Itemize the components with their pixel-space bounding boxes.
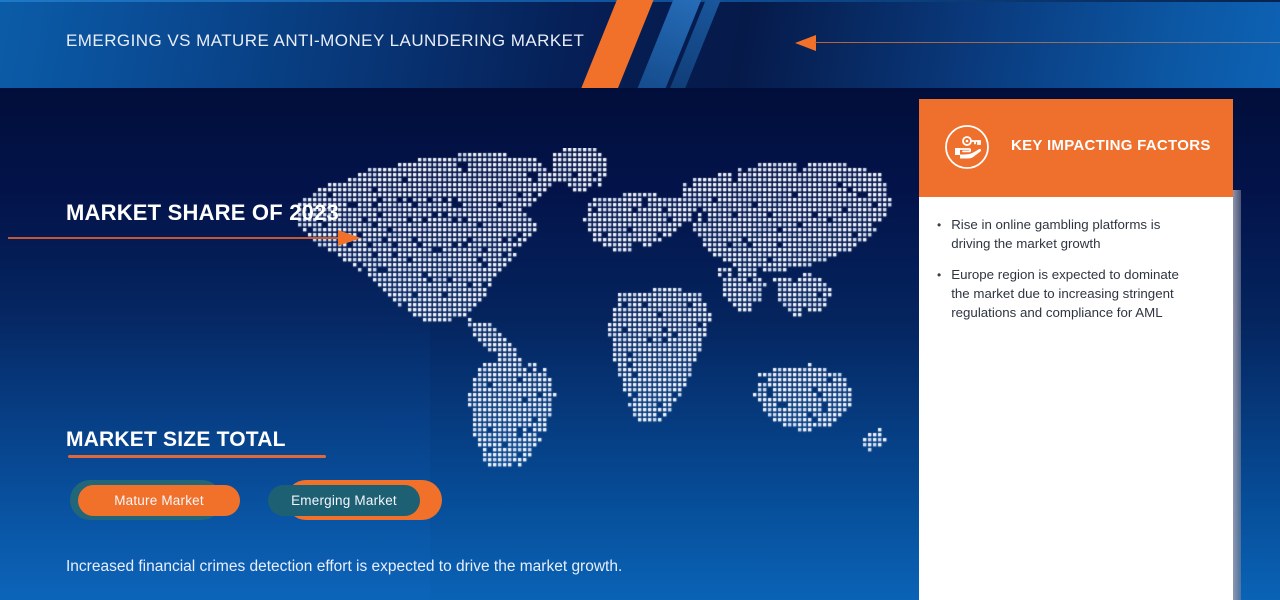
- market-size-heading: MARKET SIZE TOTAL: [66, 428, 286, 452]
- market-share-heading: MARKET SHARE OF 2023: [66, 200, 339, 226]
- legend-mature-label: Mature Market: [78, 485, 240, 516]
- list-item: • Europe region is expected to dominate …: [919, 265, 1219, 322]
- legend-emerging-label: Emerging Market: [268, 485, 420, 516]
- panel-header: KEY IMPACTING FACTORS: [919, 99, 1233, 197]
- list-item: • Rise in online gambling platforms is d…: [919, 215, 1219, 253]
- hand-holding-key-icon: [943, 123, 991, 171]
- page-title: EMERGING VS MATURE ANTI-MONEY LAUNDERING…: [66, 30, 586, 51]
- panel-shadow: [1233, 190, 1241, 600]
- main-paragraph: Increased financial crimes detection eff…: [66, 556, 626, 578]
- panel-body: • Rise in online gambling platforms is d…: [919, 197, 1233, 600]
- bullet-marker: •: [937, 215, 941, 253]
- arrow-left-line: [815, 42, 1280, 43]
- bullet-text: Rise in online gambling platforms is dri…: [951, 215, 1201, 253]
- bullet-text: Europe region is expected to dominate th…: [951, 265, 1201, 322]
- key-impacting-factors-panel: KEY IMPACTING FACTORS • Rise in online g…: [919, 99, 1233, 600]
- arrow-right-line: [8, 237, 340, 239]
- market-share-arrow-right-icon: [8, 230, 356, 246]
- bullet-marker: •: [937, 265, 941, 322]
- legend-item-mature-market[interactable]: Mature Market: [70, 480, 240, 520]
- arrow-left-tip: [795, 35, 816, 51]
- legend-item-emerging-market[interactable]: Emerging Market: [268, 480, 428, 520]
- panel-title: KEY IMPACTING FACTORS: [1011, 137, 1211, 154]
- header-arrow-left-icon: [795, 35, 1275, 51]
- header-band: EMERGING VS MATURE ANTI-MONEY LAUNDERING…: [0, 0, 1280, 88]
- market-size-underline: [68, 455, 326, 458]
- arrow-right-tip: [338, 230, 361, 246]
- world-map-dotted-icon: [288, 148, 898, 468]
